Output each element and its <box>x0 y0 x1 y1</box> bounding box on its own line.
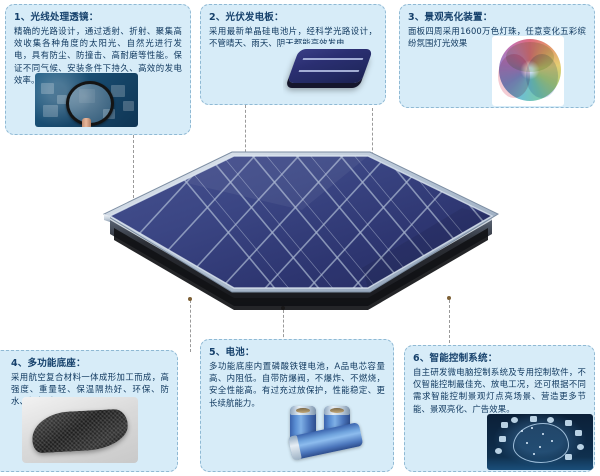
panel-6-title: 6、智能控制系统： <box>413 352 586 365</box>
panel-5-title: 5、电池： <box>209 346 385 359</box>
panel-1-title: 1、光线处理透镜： <box>14 11 182 24</box>
brain-network-icon <box>513 423 569 463</box>
carbon-fiber-base-image <box>22 397 138 463</box>
panel-2-title: 2、光伏发电板： <box>209 11 377 24</box>
hexagonal-panel-svg <box>62 148 540 333</box>
panel-5-body: 多功能底座内置磷酸铁锂电池，A品电芯容量高、内阻低。自带防爆阀，不爆炸、不燃烧，… <box>209 360 385 409</box>
smart-control-system-image <box>487 414 593 470</box>
panel-6-body: 自主研发微电脑控制系统及专用控制软件，不仅智能控制最佳充、放电工况，还可根据不同… <box>413 366 586 415</box>
solar-cell-image <box>283 44 380 97</box>
hero-solar-panel <box>62 148 540 333</box>
lithium-battery-image <box>284 403 390 469</box>
monocrystalline-cell <box>287 49 373 83</box>
infographic-canvas: 1、光线处理透镜： 精确的光路设计，通过透射、折射、聚集高效收集各种角度的太阳光… <box>0 0 600 476</box>
carbon-fiber-shell <box>31 409 129 454</box>
magnifier-handle <box>82 118 91 127</box>
color-wheel-image <box>492 36 564 106</box>
panel-3-title: 3、景观亮化装置： <box>408 11 586 24</box>
panel-4-title: 4、多功能底座： <box>1 357 169 370</box>
magnifying-glass-image <box>35 73 138 127</box>
